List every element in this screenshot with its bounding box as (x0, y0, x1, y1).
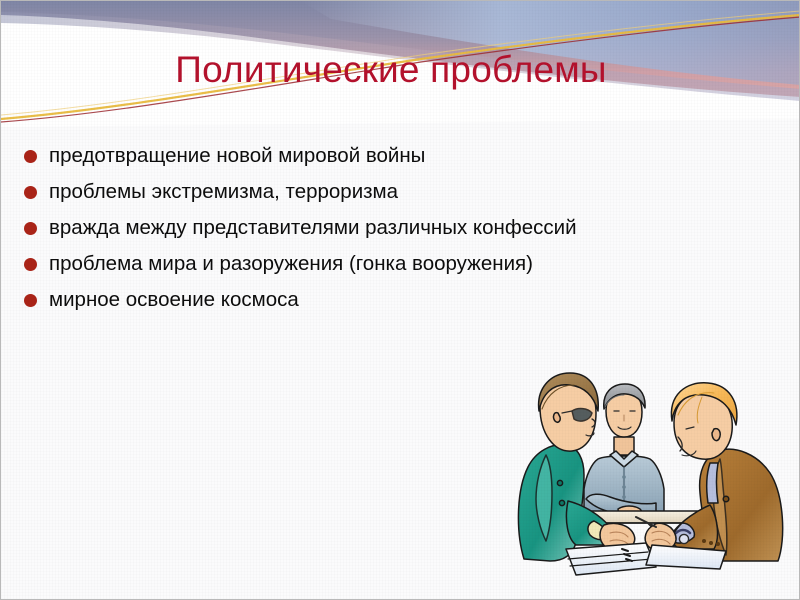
list-item: вражда между представителями различных к… (23, 214, 780, 242)
list-item-label: вражда между представителями различных к… (49, 214, 778, 242)
bullet-dot-icon (24, 150, 37, 163)
bullet-dot-icon (24, 222, 37, 235)
list-item-label: мирное освоение космоса (49, 286, 780, 314)
bullet-list: предотвращение новой мировой войны пробл… (23, 142, 780, 314)
bullet-dot-icon (24, 186, 37, 199)
negotiation-clipart-image (506, 363, 791, 593)
bullet-dot-icon (24, 258, 37, 271)
list-item: проблема мира и разоружения (гонка воору… (23, 250, 780, 278)
list-item-label: предотвращение новой мировой войны (49, 142, 780, 170)
list-item: проблемы экстремизма, терроризма (23, 178, 780, 206)
list-item-label: проблема мира и разоружения (гонка воору… (49, 250, 780, 278)
list-item: предотвращение новой мировой войны (23, 142, 780, 170)
bullet-dot-icon (24, 294, 37, 307)
list-item-label: проблемы экстремизма, терроризма (49, 178, 780, 206)
slide: Политические проблемы предотвращение нов… (0, 0, 800, 600)
slide-title: Политические проблемы (1, 48, 781, 92)
list-item: мирное освоение космоса (23, 286, 780, 314)
